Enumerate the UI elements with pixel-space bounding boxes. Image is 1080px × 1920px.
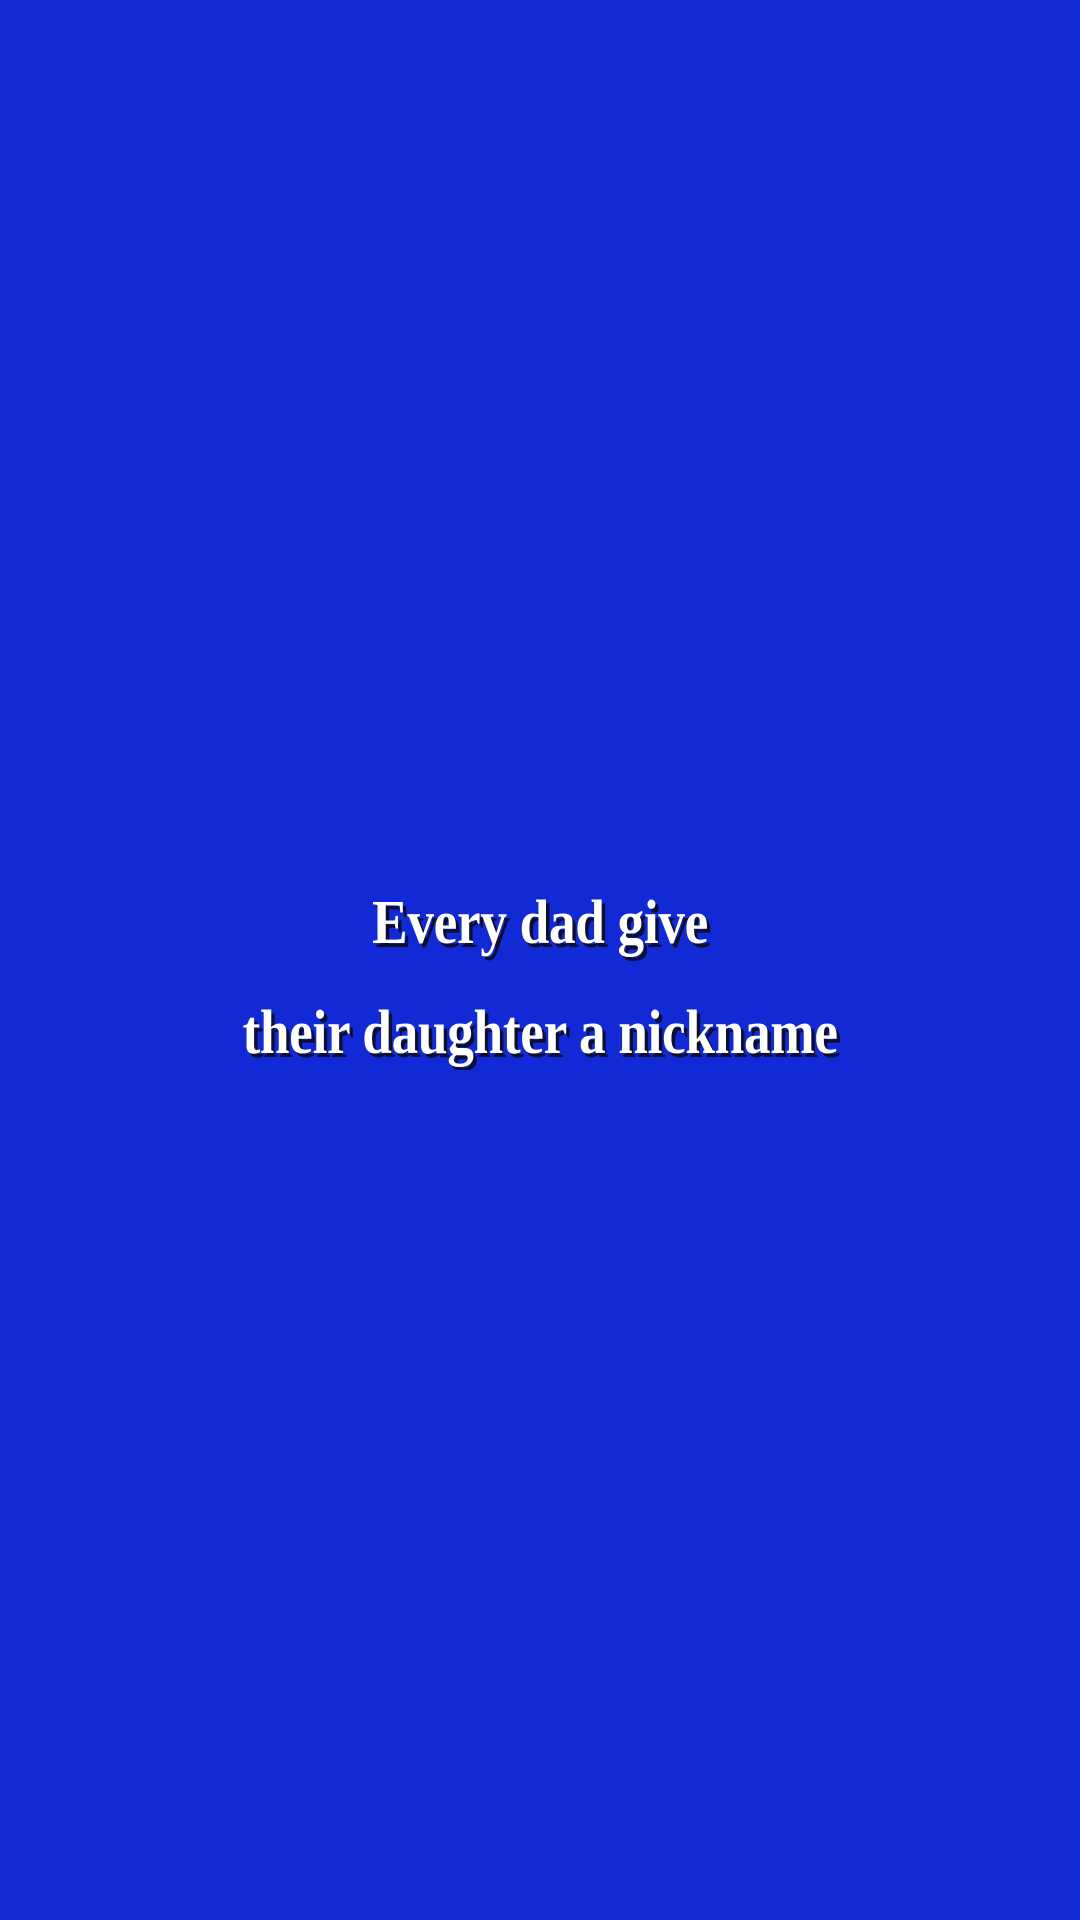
caption-block: Every dad give their daughter a nickname bbox=[0, 0, 1080, 1920]
caption-text: Every dad give their daughter a nickname bbox=[242, 841, 837, 1116]
caption-line-1: Every dad give bbox=[242, 896, 837, 951]
story-card-canvas: Every dad give their daughter a nickname bbox=[0, 0, 1080, 1920]
caption-line-2: their daughter a nickname bbox=[242, 1006, 837, 1061]
